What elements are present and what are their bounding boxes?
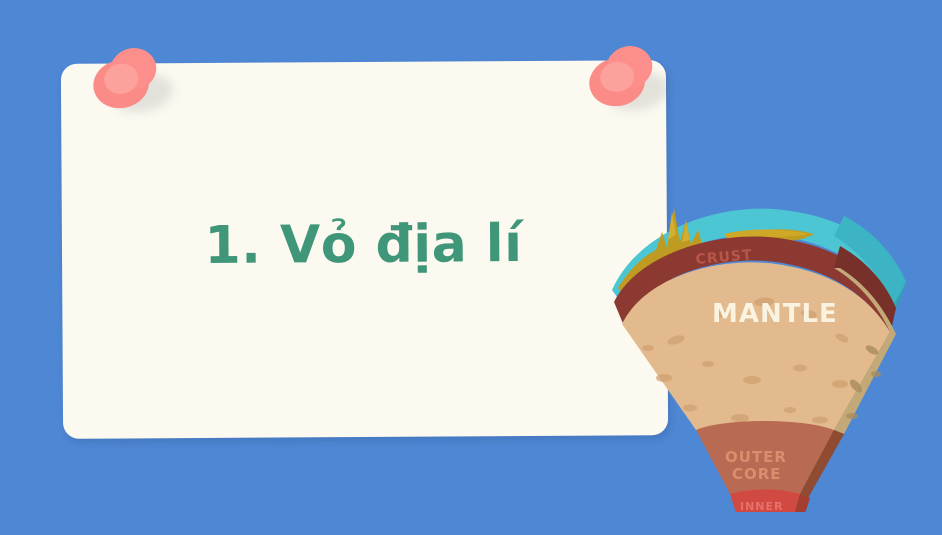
slide-canvas: 1. Vỏ địa lí bbox=[0, 0, 942, 535]
mantle-label: MANTLE bbox=[712, 299, 838, 329]
outer-core-layer: OUTER CORE bbox=[696, 421, 844, 498]
inner-core-label-line: INNER CORE bbox=[740, 500, 788, 512]
earth-cutaway-illustration: MANTLE OUTER CORE INNER CORE bbox=[604, 172, 914, 512]
pushpin-right-icon bbox=[576, 34, 678, 136]
page-title-text: 1. Vỏ địa lí bbox=[204, 214, 522, 276]
outer-core-label-word2: CORE bbox=[732, 465, 782, 483]
inner-core-label-word1: INNER bbox=[740, 500, 784, 512]
outer-core-label-word1: OUTER bbox=[725, 448, 787, 466]
pushpin-left-icon bbox=[80, 36, 182, 138]
